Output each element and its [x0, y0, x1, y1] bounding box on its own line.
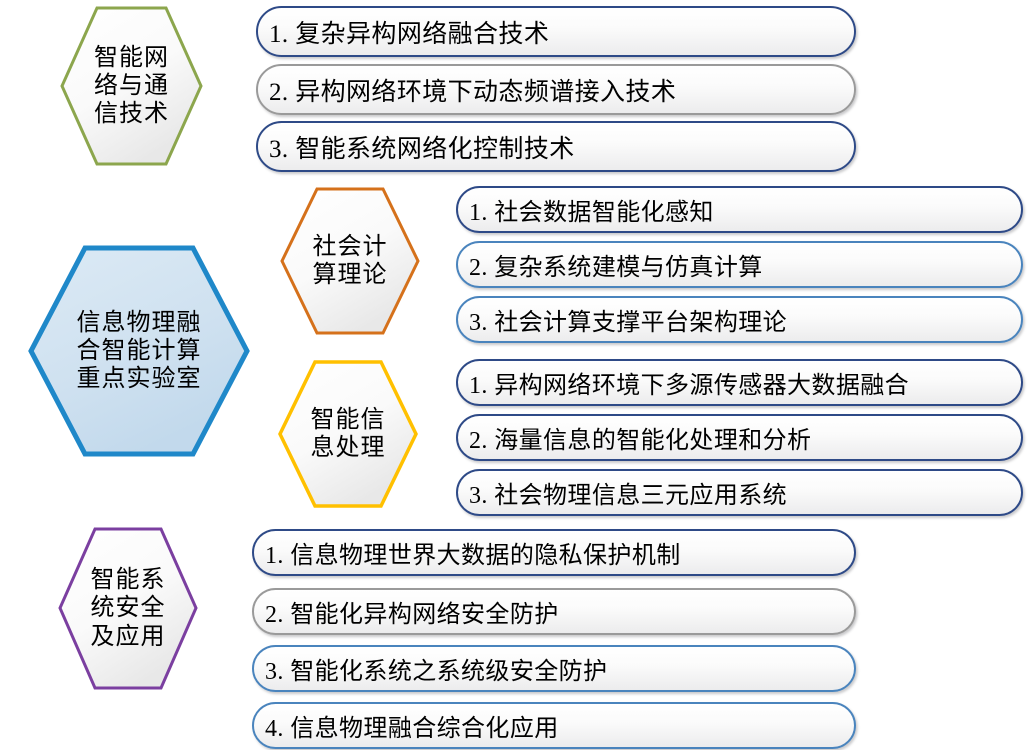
hexagon-center-lab[interactable]: 信息物理融 合智能计算 重点实验室: [28, 245, 250, 457]
hexagon-security-label: 智能系 统安全 及应用: [85, 566, 172, 651]
pill-infoproc-2-text: 2. 海量信息的智能化处理和分析: [458, 420, 811, 455]
pill-security-2-text: 2. 智能化异构网络安全防护: [254, 594, 559, 629]
pill-network-3[interactable]: 3. 智能系统网络化控制技术: [256, 121, 856, 172]
pill-security-4[interactable]: 4. 信息物理融合综合化应用: [252, 702, 856, 749]
hexagon-system-security[interactable]: 智能系 统安全 及应用: [58, 527, 198, 690]
hexagon-network-communication[interactable]: 智能网 络与通 信技术: [60, 6, 203, 166]
hexagon-network-label: 智能网 络与通 信技术: [88, 44, 175, 129]
pill-security-2[interactable]: 2. 智能化异构网络安全防护: [252, 588, 856, 635]
pill-security-1-text: 1. 信息物理世界大数据的隐私保护机制: [254, 535, 681, 570]
pill-security-3-text: 3. 智能化系统之系统级安全防护: [254, 651, 607, 686]
hexagon-infoproc-label: 智能信 息处理: [305, 406, 392, 463]
pill-network-1-text: 1. 复杂异构网络融合技术: [258, 14, 549, 50]
pill-network-3-text: 3. 智能系统网络化控制技术: [258, 129, 575, 165]
pill-social-1-text: 1. 社会数据智能化感知: [458, 192, 714, 227]
pill-social-3-text: 3. 社会计算支撑平台架构理论: [458, 302, 787, 337]
pill-network-2[interactable]: 2. 异构网络环境下动态频谱接入技术: [256, 64, 856, 115]
pill-social-2[interactable]: 2. 复杂系统建模与仿真计算: [456, 241, 1023, 288]
pill-infoproc-3[interactable]: 3. 社会物理信息三元应用系统: [456, 469, 1023, 516]
pill-security-4-text: 4. 信息物理融合综合化应用: [254, 708, 559, 743]
pill-infoproc-1-text: 1. 异构网络环境下多源传感器大数据融合: [458, 365, 909, 400]
diagram-canvas: 智能网 络与通 信技术 1. 复杂异构网络融合技术 2. 异构网络环境下动态频谱…: [0, 0, 1033, 750]
pill-infoproc-3-text: 3. 社会物理信息三元应用系统: [458, 475, 787, 510]
hexagon-social-computing[interactable]: 社会计 算理论: [280, 187, 420, 335]
pill-infoproc-2[interactable]: 2. 海量信息的智能化处理和分析: [456, 414, 1023, 461]
hexagon-center-label: 信息物理融 合智能计算 重点实验室: [71, 309, 208, 394]
pill-network-2-text: 2. 异构网络环境下动态频谱接入技术: [258, 72, 676, 108]
hexagon-intelligent-info-processing[interactable]: 智能信 息处理: [278, 360, 418, 508]
pill-security-1[interactable]: 1. 信息物理世界大数据的隐私保护机制: [252, 529, 856, 576]
pill-social-2-text: 2. 复杂系统建模与仿真计算: [458, 247, 763, 282]
pill-social-1[interactable]: 1. 社会数据智能化感知: [456, 186, 1023, 233]
hexagon-social-label: 社会计 算理论: [307, 233, 394, 290]
pill-security-3[interactable]: 3. 智能化系统之系统级安全防护: [252, 645, 856, 692]
pill-network-1[interactable]: 1. 复杂异构网络融合技术: [256, 6, 856, 57]
pill-social-3[interactable]: 3. 社会计算支撑平台架构理论: [456, 296, 1023, 343]
pill-infoproc-1[interactable]: 1. 异构网络环境下多源传感器大数据融合: [456, 359, 1023, 406]
